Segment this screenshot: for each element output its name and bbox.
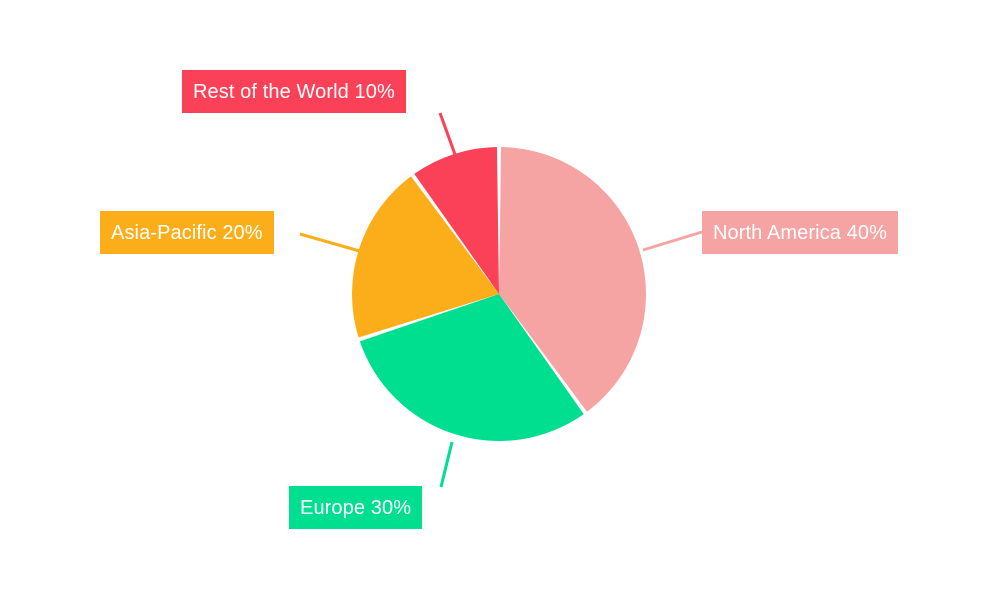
pie-label-north-america-text: North America 40% bbox=[713, 223, 887, 243]
pie-label-rest-of-the-world[interactable]: Rest of the World 10% bbox=[182, 70, 406, 113]
leader-line-asia-pacific bbox=[300, 234, 363, 252]
pie-label-europe-text: Europe 30% bbox=[300, 498, 411, 518]
leader-line-europe bbox=[441, 442, 452, 487]
leader-line-north-america bbox=[643, 232, 702, 250]
pie-label-north-america[interactable]: North America 40% bbox=[702, 211, 898, 254]
pie-label-asia-pacific-text: Asia-Pacific 20% bbox=[111, 223, 263, 243]
pie-chart-figure: North America 40% Europe 30% Asia-Pacifi… bbox=[0, 0, 1000, 600]
pie-label-asia-pacific[interactable]: Asia-Pacific 20% bbox=[100, 211, 274, 254]
pie-chart-canvas bbox=[0, 0, 1000, 600]
pie-label-rest-of-the-world-text: Rest of the World 10% bbox=[193, 82, 395, 102]
leader-line-rest-of-the-world bbox=[440, 113, 457, 160]
pie-label-europe[interactable]: Europe 30% bbox=[289, 486, 422, 529]
pie-slices bbox=[352, 147, 646, 441]
